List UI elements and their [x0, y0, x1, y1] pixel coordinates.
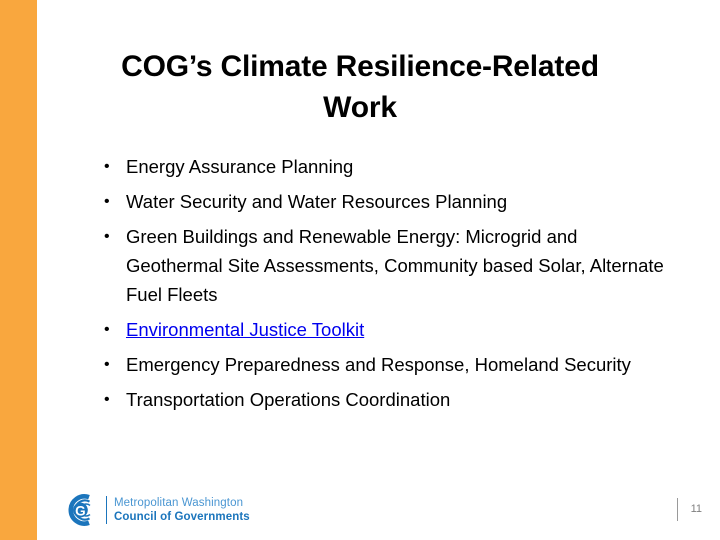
- left-accent-bar: [0, 0, 37, 540]
- page-number-group: 11: [677, 496, 702, 522]
- content-bullet-list: • Energy Assurance Planning • Water Secu…: [104, 152, 664, 420]
- organization-name: Metropolitan Washington Council of Gover…: [114, 496, 250, 524]
- organization-logo: G Metropolitan Washington Council of Gov…: [58, 490, 250, 530]
- bullet-icon: •: [104, 152, 126, 181]
- list-item: • Emergency Preparedness and Response, H…: [104, 350, 664, 379]
- bullet-icon: •: [104, 385, 126, 414]
- slide-canvas: COG’s Climate Resilience-Related Work • …: [0, 0, 720, 540]
- organization-line-1: Metropolitan Washington: [114, 496, 250, 510]
- list-item-label: Energy Assurance Planning: [126, 152, 664, 181]
- list-item: • Water Security and Water Resources Pla…: [104, 187, 664, 216]
- bullet-icon: •: [104, 350, 126, 379]
- list-item-label: Transportation Operations Coordination: [126, 385, 664, 414]
- page-number-divider: [677, 498, 678, 521]
- page-title: COG’s Climate Resilience-Related Work: [110, 46, 610, 128]
- list-item-label: Emergency Preparedness and Response, Hom…: [126, 350, 664, 379]
- list-item-label: Water Security and Water Resources Plann…: [126, 187, 664, 216]
- list-item-label: Green Buildings and Renewable Energy: Mi…: [126, 222, 664, 309]
- list-item: • Energy Assurance Planning: [104, 152, 664, 181]
- cog-circle-g-logo-icon: G: [58, 493, 102, 527]
- environmental-justice-toolkit-link[interactable]: Environmental Justice Toolkit: [126, 315, 664, 344]
- svg-text:G: G: [75, 503, 86, 518]
- logo-divider: [106, 496, 107, 524]
- list-item: • Transportation Operations Coordination: [104, 385, 664, 414]
- bullet-icon: •: [104, 187, 126, 216]
- bullet-icon: •: [104, 222, 126, 251]
- bullet-icon: •: [104, 315, 126, 344]
- organization-line-2: Council of Governments: [114, 510, 250, 524]
- list-item: • Green Buildings and Renewable Energy: …: [104, 222, 664, 309]
- page-number: 11: [691, 503, 702, 515]
- list-item-link[interactable]: • Environmental Justice Toolkit: [104, 315, 664, 344]
